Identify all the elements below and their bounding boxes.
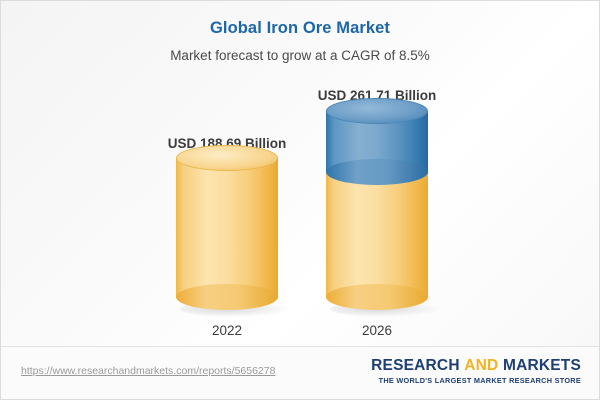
bar-bottom-cap-2022 [176,284,278,310]
logo-tagline: THE WORLD'S LARGEST MARKET RESEARCH STOR… [371,376,581,385]
bar-category-label-2026: 2026 [326,323,428,338]
infographic-card: Global Iron Ore Market Market forecast t… [0,0,600,400]
logo-word-and: AND [464,357,498,374]
report-url-link[interactable]: https://www.researchandmarkets.com/repor… [21,365,275,377]
bar-top-cap-2022 [176,145,278,171]
bar-segment-base-body-2022 [176,158,278,297]
bar-segment-base-2026 [326,172,428,297]
bar-group-2022: USD 188.69 Billion 2022 [176,158,278,308]
bar-segment-base-body-2026 [326,172,428,297]
chart-plot-area: USD 188.69 Billion 2022 USD 261.71 Billi… [1,1,599,346]
bar-segment-base-2022 [176,158,278,297]
logo-word-markets: MARKETS [503,357,581,374]
bar-group-2026: USD 261.71 Billion 2026 [326,110,428,308]
brand-logo[interactable]: RESEARCH AND MARKETS THE WORLD'S LARGEST… [371,358,581,385]
bar-cylinder-2022[interactable] [176,158,278,297]
bar-growth-bottom-cap-2026 [326,159,428,185]
footer: https://www.researchandmarkets.com/repor… [1,346,599,399]
logo-word-research: RESEARCH [371,357,460,374]
logo-wordmark: RESEARCH AND MARKETS [371,358,581,374]
bar-cylinder-2026[interactable] [326,111,428,297]
bar-segment-growth-2026 [326,111,428,172]
bar-category-label-2022: 2022 [176,323,278,338]
bar-top-cap-2026 [326,98,428,124]
bar-bottom-cap-2026 [326,284,428,310]
